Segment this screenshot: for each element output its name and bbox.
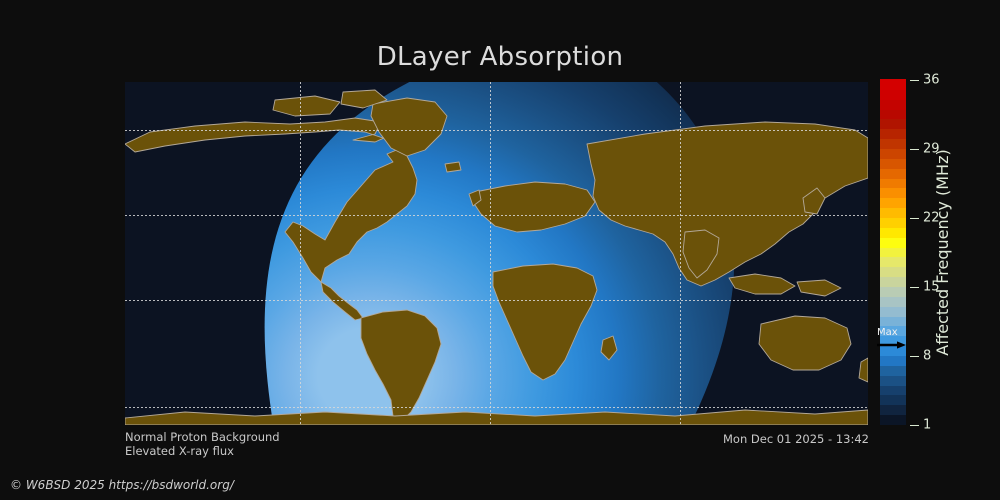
status-xray-flux: Elevated X-ray flux — [125, 444, 234, 458]
colorbar-segment — [880, 277, 906, 287]
colorbar-segment — [880, 257, 906, 267]
colorbar-segment — [880, 188, 906, 198]
colorbar-segment — [880, 415, 906, 425]
colorbar-tick — [910, 356, 919, 357]
colorbar-segment — [880, 227, 906, 237]
gridline-horizontal — [125, 130, 868, 131]
colorbar-segment — [880, 148, 906, 158]
colorbar-segment — [880, 405, 906, 415]
colorbar-segment — [880, 267, 906, 277]
colorbar-segment — [880, 286, 906, 296]
gridline-horizontal — [125, 407, 868, 408]
gridline-vertical — [680, 82, 681, 425]
colorbar-segment — [880, 395, 906, 405]
map-canvas — [125, 82, 868, 425]
colorbar-segment — [880, 178, 906, 188]
colorbar-segment — [880, 365, 906, 375]
colorbar-segment — [880, 336, 906, 346]
colorbar — [880, 80, 906, 425]
colorbar-segment — [880, 198, 906, 208]
colorbar-tick — [910, 80, 919, 81]
colorbar-axis-label: Affected Frequency (MHz) — [932, 80, 954, 425]
colorbar-segment — [880, 139, 906, 149]
colorbar-segment — [880, 99, 906, 109]
colorbar-segment — [880, 119, 906, 129]
colorbar-tick — [910, 149, 919, 150]
colorbar-segment — [880, 375, 906, 385]
land-iceland — [445, 162, 461, 172]
colorbar-segment — [880, 217, 906, 227]
page-title: DLayer Absorption — [0, 42, 1000, 72]
colorbar-segment — [880, 355, 906, 365]
gridline-vertical — [490, 82, 491, 425]
timestamp: Mon Dec 01 2025 - 13:42 — [723, 432, 869, 446]
colorbar-segment — [880, 208, 906, 218]
colorbar-gradient — [880, 80, 906, 425]
colorbar-segment — [880, 385, 906, 395]
colorbar-segment — [880, 168, 906, 178]
colorbar-segment — [880, 247, 906, 257]
colorbar-tick — [910, 287, 919, 288]
copyright-footer: © W6BSD 2025 https://bsdworld.org/ — [10, 478, 234, 492]
colorbar-tick-label: 1 — [923, 419, 931, 432]
colorbar-segment — [880, 129, 906, 139]
colorbar-segment — [880, 158, 906, 168]
colorbar-tick — [910, 425, 919, 426]
colorbar-segment — [880, 306, 906, 316]
gridline-horizontal — [125, 215, 868, 216]
colorbar-segment — [880, 109, 906, 119]
status-proton-background: Normal Proton Background — [125, 430, 280, 444]
colorbar-segment — [880, 79, 906, 89]
colorbar-segment — [880, 326, 906, 336]
colorbar-segment — [880, 296, 906, 306]
world-map — [125, 82, 868, 425]
gridline-horizontal — [125, 300, 868, 301]
colorbar-segment — [880, 346, 906, 356]
colorbar-segment — [880, 316, 906, 326]
colorbar-tick — [910, 218, 919, 219]
colorbar-segment — [880, 237, 906, 247]
gridline-vertical — [300, 82, 301, 425]
colorbar-segment — [880, 89, 906, 99]
colorbar-tick-label: 8 — [923, 350, 931, 363]
